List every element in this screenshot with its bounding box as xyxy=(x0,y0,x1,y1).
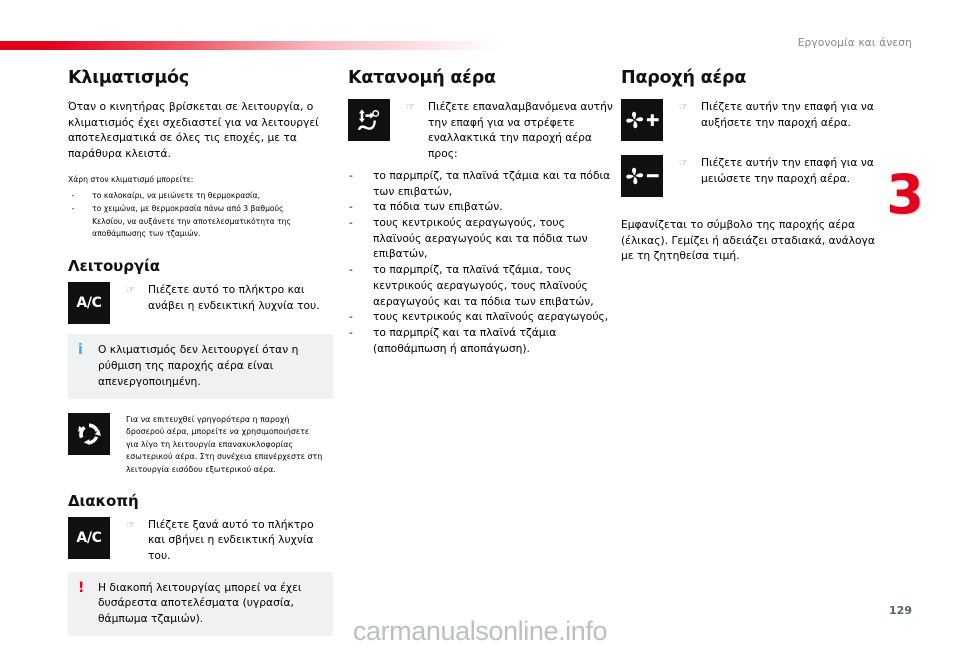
dash-bullet: - xyxy=(349,262,353,278)
air-distribution-list: -το παρμπρίζ, τα πλαϊνά τζάμια και τα πό… xyxy=(348,168,613,357)
dash-bullet: - xyxy=(72,202,75,214)
list-item-label: το χειμώνα, με θερμοκρασία πάνω από 3 βα… xyxy=(92,203,291,238)
column-right: Παροχή αέρα ☞ Πιέζετε αυτήν την επαφή γ xyxy=(621,68,886,275)
airflow-increase-text: Πιέζετε αυτήν την επαφή για να αυξήσετε … xyxy=(679,99,886,130)
info-callout-text: Ο κλιματισμός δεν λειτουργεί όταν η ρύθμ… xyxy=(98,342,323,389)
recirculation-caption: Για να επιτευχθεί γρηγορότερα η παροχή δ… xyxy=(126,413,323,476)
hand-pointer-icon: ☞ xyxy=(679,157,693,171)
list-item: -το παρμπρίζ, τα πλαϊνά τζάμια και τα πό… xyxy=(348,168,613,199)
fan-increase-icon[interactable] xyxy=(621,99,663,141)
operation-instruction-row: A/C ☞ Πιέζετε αυτό το πλήκτρο και ανάβει… xyxy=(68,282,333,326)
stop-instruction-text: Πιέζετε ξανά αυτό το πλήκτρο και σβήνει … xyxy=(126,517,333,564)
dash-bullet: - xyxy=(349,168,353,184)
air-distribution-intro-text: Πιέζετε επαναλαμβανόμενα αυτήν την επαφή… xyxy=(406,99,613,162)
list-item-label: το παρμπρίζ, τα πλαϊνά τζάμια, τους κεντ… xyxy=(373,263,594,307)
dash-bullet: - xyxy=(72,189,75,201)
list-item: -το καλοκαίρι, να μειώνετε τη θερμοκρασί… xyxy=(68,189,314,201)
dash-bullet: - xyxy=(349,309,353,325)
list-item-label: το παρμπρίζ και τα πλαϊνά τζάμια (αποθάμ… xyxy=(373,326,556,355)
list-item-label: τους κεντρικούς και πλαϊνούς αεραγωγούς, xyxy=(373,310,608,323)
smallprint-list: -το καλοκαίρι, να μειώνετε τη θερμοκρασί… xyxy=(68,189,333,239)
column-middle: Κατανομή αέρα ☞ Πιέζετε επαναλαμβανόμενα… xyxy=(348,68,613,357)
airflow-note-text: Εμφανίζεται το σύμβολο της παροχής αέρα … xyxy=(621,217,886,264)
subsection-title-operation: Λειτουργία xyxy=(68,257,333,275)
operation-instruction-body: ☞ Πιέζετε αυτό το πλήκτρο και ανάβει η ε… xyxy=(126,282,333,324)
list-item: -τα πόδια των επιβατών. xyxy=(348,199,613,215)
ac-button-icon[interactable]: A/C xyxy=(68,517,110,559)
chapter-number-marker: 3 xyxy=(886,168,924,222)
dash-bullet: - xyxy=(349,325,353,341)
airflow-decrease-row: ☞ Πιέζετε αυτήν την επαφή για να μειώσετ… xyxy=(621,155,886,203)
hand-pointer-icon: ☞ xyxy=(406,101,420,115)
section-title-air-distribution: Κατανομή αέρα xyxy=(348,68,613,88)
list-item: -το παρμπρίζ και τα πλαϊνά τζάμια (αποθά… xyxy=(348,325,613,356)
list-item: -το χειμώνα, με θερμοκρασία πάνω από 3 β… xyxy=(68,202,314,239)
airflow-increase-row: ☞ Πιέζετε αυτήν την επαφή για να αυξήσετ… xyxy=(621,99,886,147)
stop-instruction-row: A/C ☞ Πιέζετε ξανά αυτό το πλήκτρο και σ… xyxy=(68,517,333,564)
air-conditioning-intro: Όταν ο κινητήρας βρίσκεται σε λειτουργία… xyxy=(68,99,333,162)
list-item: -το παρμπρίζ, τα πλαϊνά τζάμια, τους κεν… xyxy=(348,262,613,309)
smallprint-intro: Χάρη στον κλιματισμό μπορείτε: xyxy=(68,173,314,185)
recirculation-row: Για να επιτευχθεί γρηγορότερα η παροχή δ… xyxy=(68,413,333,476)
section-title-air-conditioning: Κλιματισμός xyxy=(68,68,333,88)
subsection-title-stop: Διακοπή xyxy=(68,492,333,510)
column-left: Κλιματισμός Όταν ο κινητήρας βρίσκεται σ… xyxy=(68,68,333,636)
airflow-increase-body: ☞ Πιέζετε αυτήν την επαφή για να αυξήσετ… xyxy=(679,99,886,141)
airflow-decrease-body: ☞ Πιέζετε αυτήν την επαφή για να μειώσετ… xyxy=(679,155,886,197)
air-distribution-instruction-body: ☞ Πιέζετε επαναλαμβανόμενα αυτήν την επα… xyxy=(406,99,613,162)
ac-button-icon[interactable]: A/C xyxy=(68,282,110,324)
list-item-label: τους κεντρικούς αεραγωγούς, τους πλαϊνού… xyxy=(373,216,588,260)
section-title-air-flow: Παροχή αέρα xyxy=(621,68,886,88)
dash-bullet: - xyxy=(349,199,353,215)
list-item-label: τα πόδια των επιβατών. xyxy=(373,200,503,213)
list-item-label: το καλοκαίρι, να μειώνετε τη θερμοκρασία… xyxy=(92,190,260,200)
hand-pointer-icon: ☞ xyxy=(126,519,140,533)
list-item-label: το παρμπρίζ, τα πλαϊνά τζάμια και τα πόδ… xyxy=(373,169,610,198)
hand-pointer-icon: ☞ xyxy=(679,101,693,115)
hand-pointer-icon: ☞ xyxy=(126,284,140,298)
manual-page: Εργονομία και άνεση 3 Κλιματισμός Όταν ο… xyxy=(0,0,960,649)
air-recirculation-icon[interactable] xyxy=(68,413,110,455)
watermark: carmanualsonline.info xyxy=(0,616,960,647)
operation-instruction-text: Πιέζετε αυτό το πλήκτρο και ανάβει η ενδ… xyxy=(126,282,333,313)
warning-icon: ! xyxy=(78,580,98,596)
dash-bullet: - xyxy=(349,215,353,231)
header-title: Εργονομία και άνεση xyxy=(798,37,912,49)
info-icon: i xyxy=(78,342,98,358)
fan-decrease-icon[interactable] xyxy=(621,155,663,197)
list-item: -τους κεντρικούς και πλαϊνούς αεραγωγούς… xyxy=(348,309,613,325)
info-callout: i Ο κλιματισμός δεν λειτουργεί όταν η ρύ… xyxy=(68,334,333,398)
ac-button-label: A/C xyxy=(76,295,101,311)
header-accent-bar xyxy=(0,41,500,50)
stop-instruction-body: ☞ Πιέζετε ξανά αυτό το πλήκτρο και σβήνε… xyxy=(126,517,333,564)
list-item: -τους κεντρικούς αεραγωγούς, τους πλαϊνο… xyxy=(348,215,613,262)
ac-button-label: A/C xyxy=(76,530,101,546)
airflow-decrease-text: Πιέζετε αυτήν την επαφή για να μειώσετε … xyxy=(679,155,886,186)
air-distribution-instruction-row: ☞ Πιέζετε επαναλαμβανόμενα αυτήν την επα… xyxy=(348,99,613,162)
air-distribution-icon[interactable] xyxy=(348,99,390,141)
